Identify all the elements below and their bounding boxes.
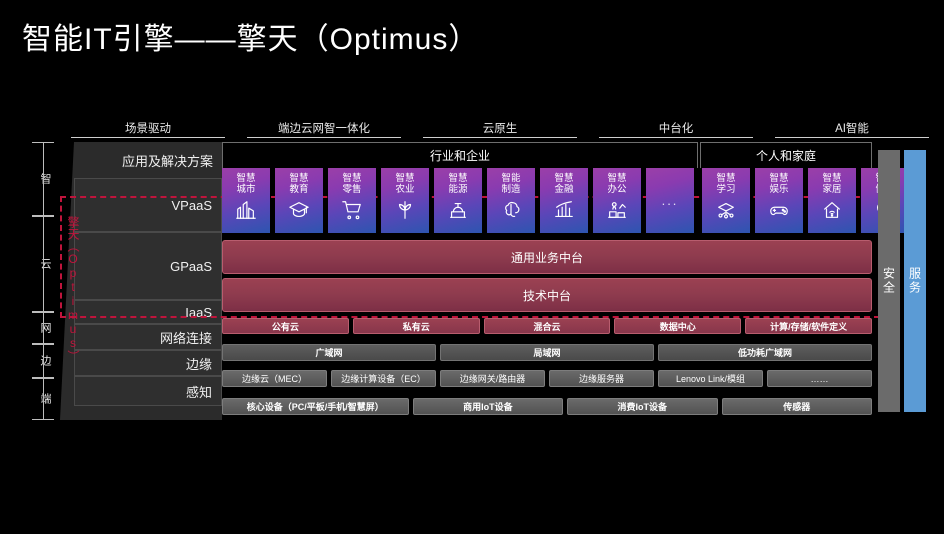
solution-card-home-1[interactable]: 智慧学习 xyxy=(702,168,750,233)
sense-chip-item[interactable]: 消费IoT设备 xyxy=(567,398,717,415)
edge-chip-item[interactable]: 边缘计算设备（EC） xyxy=(331,370,436,387)
card-label: 智慧零售 xyxy=(342,173,361,195)
iaas-chip-item[interactable]: 私有云 xyxy=(353,318,480,334)
driver-underline xyxy=(775,137,930,138)
driver-underline xyxy=(599,137,754,138)
solution-card-industry-9[interactable]: ... xyxy=(646,168,694,233)
gamepad-icon xyxy=(766,198,792,222)
card-label: 智慧金融 xyxy=(554,173,573,195)
gear-brain-icon xyxy=(498,198,524,222)
axis-segment-label: 云 xyxy=(37,258,53,270)
card-label: 智慧办公 xyxy=(607,173,626,195)
row-label-应用及解决方案: 应用及解决方案 xyxy=(74,142,222,178)
service-bar-label: 服务 xyxy=(907,267,924,295)
axis-segment-云: 云 xyxy=(32,216,58,312)
card-label: 智慧娱乐 xyxy=(769,173,788,195)
card-label: 智慧农业 xyxy=(395,173,414,195)
gpaas-bar-2[interactable]: 技术中台 xyxy=(222,278,872,312)
card-label: 智慧家居 xyxy=(822,173,841,195)
office-desk-icon xyxy=(604,198,630,222)
group-header-1: 行业和企业 xyxy=(222,142,698,168)
shopping-cart-icon xyxy=(339,198,365,222)
driver-label-1: 场景驱动 xyxy=(60,116,236,138)
driver-label-row: 场景驱动端边云网智一体化云原生中台化AI智能 xyxy=(60,116,940,138)
solution-card-home-3[interactable]: 智慧家居 xyxy=(808,168,856,233)
graduation-cap-icon xyxy=(286,198,312,222)
slide-canvas: 智能IT引擎——擎天（Optimus） 场景驱动端边云网智一体化云原生中台化AI… xyxy=(0,0,944,534)
solution-card-industry-8[interactable]: 智慧办公 xyxy=(593,168,641,233)
sense-chip-item[interactable]: 核心设备（PC/平板/手机/智慧屏） xyxy=(222,398,409,415)
edge-chip: 边缘云（MEC）边缘计算设备（EC）边缘网关/路由器边缘服务器Lenovo Li… xyxy=(222,370,872,387)
axis-segment-rule xyxy=(43,142,44,216)
axis-segment-rule xyxy=(43,378,44,420)
axis-segment-端: 端 xyxy=(32,378,58,420)
driver-label-text: AI智能 xyxy=(835,123,869,135)
group-header-2: 个人和家庭 xyxy=(700,142,872,168)
iaas-chip: 公有云私有云混合云数据中心计算/存储/软件定义 xyxy=(222,318,872,334)
driver-label-text: 云原生 xyxy=(483,123,518,135)
edge-chip-item[interactable]: …… xyxy=(767,370,872,387)
axis-segment-label: 智 xyxy=(37,173,53,185)
network-chip: 广域网局域网低功耗广域网 xyxy=(222,344,872,361)
iaas-chip-item[interactable]: 数据中心 xyxy=(614,318,741,334)
axis-segment-网: 网 xyxy=(32,312,58,344)
axis-segment-rule xyxy=(43,312,44,344)
sense-chip-item[interactable]: 传感器 xyxy=(722,398,872,415)
optimus-label: 擎天（Optimus） xyxy=(66,216,79,362)
edge-chip-item[interactable]: Lenovo Link/模组 xyxy=(658,370,763,387)
edge-chip-item[interactable]: 边缘服务器 xyxy=(549,370,654,387)
security-bar-label: 安全 xyxy=(881,267,898,295)
smart-home-icon xyxy=(819,198,845,222)
card-label: 智慧城市 xyxy=(236,173,255,195)
card-label: 智慧能源 xyxy=(448,173,467,195)
solution-card-industry-6[interactable]: 智能制造 xyxy=(487,168,535,233)
sense-chip: 核心设备（PC/平板/手机/智慧屏）商用IoT设备消费IoT设备传感器 xyxy=(222,398,872,415)
page-title: 智能IT引擎——擎天（Optimus） xyxy=(22,14,479,58)
architecture-frame: 智云网边端 应用及解决方案VPaaSGPaaSIaaS网络连接边缘感知 擎天（O… xyxy=(22,142,910,420)
edge-chip-item[interactable]: 边缘云（MEC） xyxy=(222,370,327,387)
driver-label-5: AI智能 xyxy=(764,116,940,138)
plant-icon xyxy=(392,198,418,222)
axis-segment-rule xyxy=(43,344,44,378)
driver-underline xyxy=(247,137,402,138)
row-label-边缘: 边缘 xyxy=(74,350,222,376)
card-label: 智慧学习 xyxy=(716,173,735,195)
card-label: 智能制造 xyxy=(501,173,520,195)
driver-label-text: 端边云网智一体化 xyxy=(278,123,370,135)
sense-chip-item[interactable]: 商用IoT设备 xyxy=(413,398,563,415)
service-bar: 服务 xyxy=(904,150,926,412)
network-chip-item[interactable]: 低功耗广域网 xyxy=(658,344,872,361)
axis-segment-label: 边 xyxy=(37,355,53,367)
card-label: 智慧教育 xyxy=(289,173,308,195)
iaas-chip-item[interactable]: 公有云 xyxy=(222,318,349,334)
row-label-感知: 感知 xyxy=(74,376,222,406)
axis-segment-智: 智 xyxy=(32,142,58,216)
ellipsis-icon: ... xyxy=(662,193,679,208)
axis-segment-rule xyxy=(43,216,44,312)
solution-card-home-2[interactable]: 智慧娱乐 xyxy=(755,168,803,233)
power-plant-icon xyxy=(445,198,471,222)
solution-card-industry-5[interactable]: 智慧能源 xyxy=(434,168,482,233)
architecture-content: 行业和企业个人和家庭 智慧城市智慧教育智慧零售智慧农业智慧能源智能制造智慧金融智… xyxy=(222,142,872,420)
city-icon xyxy=(233,198,259,222)
solution-card-industry-1[interactable]: 智慧城市 xyxy=(222,168,270,233)
vertical-axis: 智云网边端 xyxy=(22,142,62,420)
axis-segment-边: 边 xyxy=(32,344,58,378)
driver-underline xyxy=(423,137,578,138)
growth-chart-icon xyxy=(551,198,577,222)
group-header-row: 行业和企业个人和家庭 xyxy=(222,142,872,168)
study-cap-icon xyxy=(713,198,739,222)
driver-label-text: 场景驱动 xyxy=(125,123,171,135)
iaas-chip-item[interactable]: 混合云 xyxy=(484,318,611,334)
axis-segment-label: 端 xyxy=(37,393,53,405)
solution-card-industry-3[interactable]: 智慧零售 xyxy=(328,168,376,233)
security-bar: 安全 xyxy=(878,150,900,412)
driver-label-4: 中台化 xyxy=(588,116,764,138)
driver-label-2: 端边云网智一体化 xyxy=(236,116,412,138)
driver-label-text: 中台化 xyxy=(659,123,694,135)
solution-card-industry-4[interactable]: 智慧农业 xyxy=(381,168,429,233)
solution-card-industry-7[interactable]: 智慧金融 xyxy=(540,168,588,233)
solution-card-industry-2[interactable]: 智慧教育 xyxy=(275,168,323,233)
gpaas-bar-1[interactable]: 通用业务中台 xyxy=(222,240,872,274)
edge-chip-item[interactable]: 边缘网关/路由器 xyxy=(440,370,545,387)
driver-label-3: 云原生 xyxy=(412,116,588,138)
driver-underline xyxy=(71,137,226,138)
row-label-网络连接: 网络连接 xyxy=(74,324,222,350)
network-chip-item[interactable]: 广域网 xyxy=(222,344,436,361)
axis-segment-label: 网 xyxy=(37,322,53,334)
solution-card-row: 智慧城市智慧教育智慧零售智慧农业智慧能源智能制造智慧金融智慧办公...智慧学习智… xyxy=(222,168,872,233)
network-chip-item[interactable]: 局域网 xyxy=(440,344,654,361)
iaas-chip-item[interactable]: 计算/存储/软件定义 xyxy=(745,318,872,334)
